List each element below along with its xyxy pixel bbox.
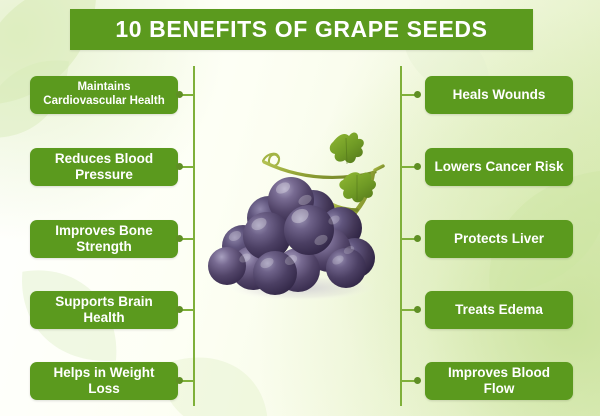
connector-spine-right	[400, 66, 402, 406]
connector-dot-right-4	[414, 306, 421, 313]
benefit-box-right-4[interactable]: Treats Edema	[425, 291, 573, 329]
benefit-box-left-3[interactable]: Improves Bone Strength	[30, 220, 178, 258]
benefit-box-left-2[interactable]: Reduces Blood Pressure	[30, 148, 178, 186]
benefit-label: Lowers Cancer Risk	[434, 159, 563, 175]
benefit-label: Treats Edema	[455, 302, 543, 318]
benefit-label: Improves Bone Strength	[36, 223, 172, 255]
benefit-label: Helps in Weight Loss	[36, 365, 172, 397]
benefit-box-left-4[interactable]: Supports Brain Health	[30, 291, 178, 329]
benefit-box-right-3[interactable]: Protects Liver	[425, 220, 573, 258]
benefit-box-right-2[interactable]: Lowers Cancer Risk	[425, 148, 573, 186]
connector-dot-right-5	[414, 377, 421, 384]
benefit-label: Protects Liver	[454, 231, 544, 247]
connector-dot-right-1	[414, 91, 421, 98]
connector-spine-left	[193, 66, 195, 406]
benefit-box-right-5[interactable]: Improves Blood Flow	[425, 362, 573, 400]
benefit-box-right-1[interactable]: Heals Wounds	[425, 76, 573, 114]
benefit-label: Reduces Blood Pressure	[36, 151, 172, 183]
connector-dot-left-5	[176, 377, 183, 384]
connector-dot-left-2	[176, 163, 183, 170]
benefit-box-left-5[interactable]: Helps in Weight Loss	[30, 362, 178, 400]
connector-dot-left-1	[176, 91, 183, 98]
benefit-label: Maintains Cardiovascular Health	[43, 81, 164, 108]
connector-dot-left-4	[176, 306, 183, 313]
connector-dot-right-2	[414, 163, 421, 170]
benefit-label: Supports Brain Health	[36, 294, 172, 326]
page-title: 10 BENEFITS OF GRAPE SEEDS	[70, 9, 533, 50]
benefit-label: Heals Wounds	[453, 87, 546, 103]
grape-cluster-image	[205, 118, 400, 303]
infographic-canvas: 10 BENEFITS OF GRAPE SEEDS Maintains Car…	[0, 0, 600, 416]
connector-dot-left-3	[176, 235, 183, 242]
connector-dot-right-3	[414, 235, 421, 242]
benefit-box-left-1[interactable]: Maintains Cardiovascular Health	[30, 76, 178, 114]
title-bar: 10 BENEFITS OF GRAPE SEEDS	[70, 9, 533, 50]
benefit-label: Improves Blood Flow	[431, 365, 567, 397]
